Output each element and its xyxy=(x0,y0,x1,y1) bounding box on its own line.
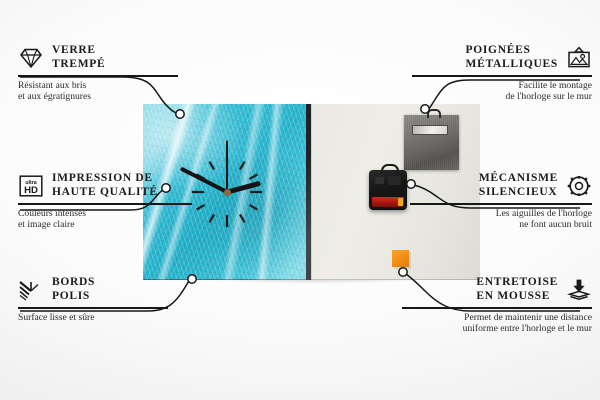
callout-verre-trempe: VERRE TREMPÉ Résistant aux bris et aux é… xyxy=(18,44,178,103)
callout-entretoise-en-mousse: ENTRETOISE EN MOUSSE Permet de maintenir… xyxy=(402,276,592,335)
foam-spacer-pad xyxy=(392,250,409,267)
hour-tick xyxy=(196,174,258,211)
callout-title-row: POIGNÉES MÉTALLIQUES xyxy=(412,44,592,71)
callout-divider xyxy=(18,75,178,77)
callout-poignees-metalliques: POIGNÉES MÉTALLIQUES Facilite le montage… xyxy=(412,44,592,103)
callout-title: VERRE TREMPÉ xyxy=(52,44,105,71)
callout-divider xyxy=(18,203,192,205)
movement-port xyxy=(375,177,384,184)
hanging-picture-frame-icon xyxy=(566,46,592,70)
callout-mecanisme-silencieux: MÉCANISME SILENCIEUX Les aiguilles de l'… xyxy=(410,172,592,231)
callout-subtitle: Surface lisse et sûre xyxy=(18,312,168,324)
callout-title-row: ENTRETOISE EN MOUSSE xyxy=(402,276,592,303)
movement-port-secondary xyxy=(388,176,401,185)
gear-icon xyxy=(566,174,592,198)
callout-title-row: VERRE TREMPÉ xyxy=(18,44,178,71)
callout-divider xyxy=(410,203,592,205)
callout-divider xyxy=(412,75,592,77)
hour-tick xyxy=(209,161,246,223)
callout-subtitle: Couleurs intenses et image claire xyxy=(18,208,192,231)
hour-tick xyxy=(192,191,262,193)
battery-positive-tip xyxy=(398,198,403,206)
hour-tick xyxy=(209,161,246,223)
callout-title: ENTRETOISE EN MOUSSE xyxy=(476,276,558,303)
callout-divider xyxy=(402,307,592,309)
hour-tick xyxy=(226,157,228,227)
polished-edge-lines-icon xyxy=(18,278,44,302)
callout-title: POIGNÉES MÉTALLIQUES xyxy=(466,44,558,71)
callout-subtitle: Résistant aux bris et aux égratignures xyxy=(18,80,178,103)
metal-hanger-plate xyxy=(404,115,459,170)
ultra-hd-badge-icon: ultra HD xyxy=(18,174,44,198)
hour-tick xyxy=(196,174,258,211)
callout-title: MÉCANISME SILENCIEUX xyxy=(479,172,558,199)
clock-second-hand xyxy=(226,141,228,196)
hour-tick xyxy=(209,161,246,223)
hanger-hook-icon xyxy=(427,109,441,118)
movement-hanging-loop xyxy=(381,164,399,174)
hour-tick xyxy=(196,174,258,211)
svg-text:HD: HD xyxy=(24,185,38,196)
arrow-down-onto-layers-icon xyxy=(566,278,592,302)
callout-divider xyxy=(18,307,168,309)
quartz-movement-box xyxy=(369,170,407,210)
callout-subtitle: Les aiguilles de l'horloge ne font aucun… xyxy=(410,208,592,231)
hour-tick xyxy=(226,157,228,227)
hanger-slot xyxy=(412,125,448,135)
clock-hands-cap xyxy=(224,189,231,196)
aa-battery xyxy=(372,197,404,207)
hour-tick xyxy=(209,161,246,223)
clock-hour-hand xyxy=(226,181,260,195)
hour-tick xyxy=(196,174,258,211)
callout-title-row: MÉCANISME SILENCIEUX xyxy=(410,172,592,199)
callout-subtitle: Permet de maintenir une distance uniform… xyxy=(402,312,592,335)
callout-title: BORDS POLIS xyxy=(52,276,95,303)
diamond-gem-icon xyxy=(18,46,44,70)
callout-title: IMPRESSION DE HAUTE QUALITÉ xyxy=(52,172,158,199)
callout-title-row: ultra HD IMPRESSION DE HAUTE QUALITÉ xyxy=(18,172,192,199)
callout-title-row: BORDS POLIS xyxy=(18,276,168,303)
callout-impression-haute-qualite: ultra HD IMPRESSION DE HAUTE QUALITÉ Cou… xyxy=(18,172,192,231)
hour-tick xyxy=(192,191,262,193)
callout-subtitle: Facilite le montage de l'horloge sur le … xyxy=(412,80,592,103)
infographic-canvas: VERRE TREMPÉ Résistant aux bris et aux é… xyxy=(0,0,600,400)
callout-bords-polis: BORDS POLIS Surface lisse et sûre xyxy=(18,276,168,323)
